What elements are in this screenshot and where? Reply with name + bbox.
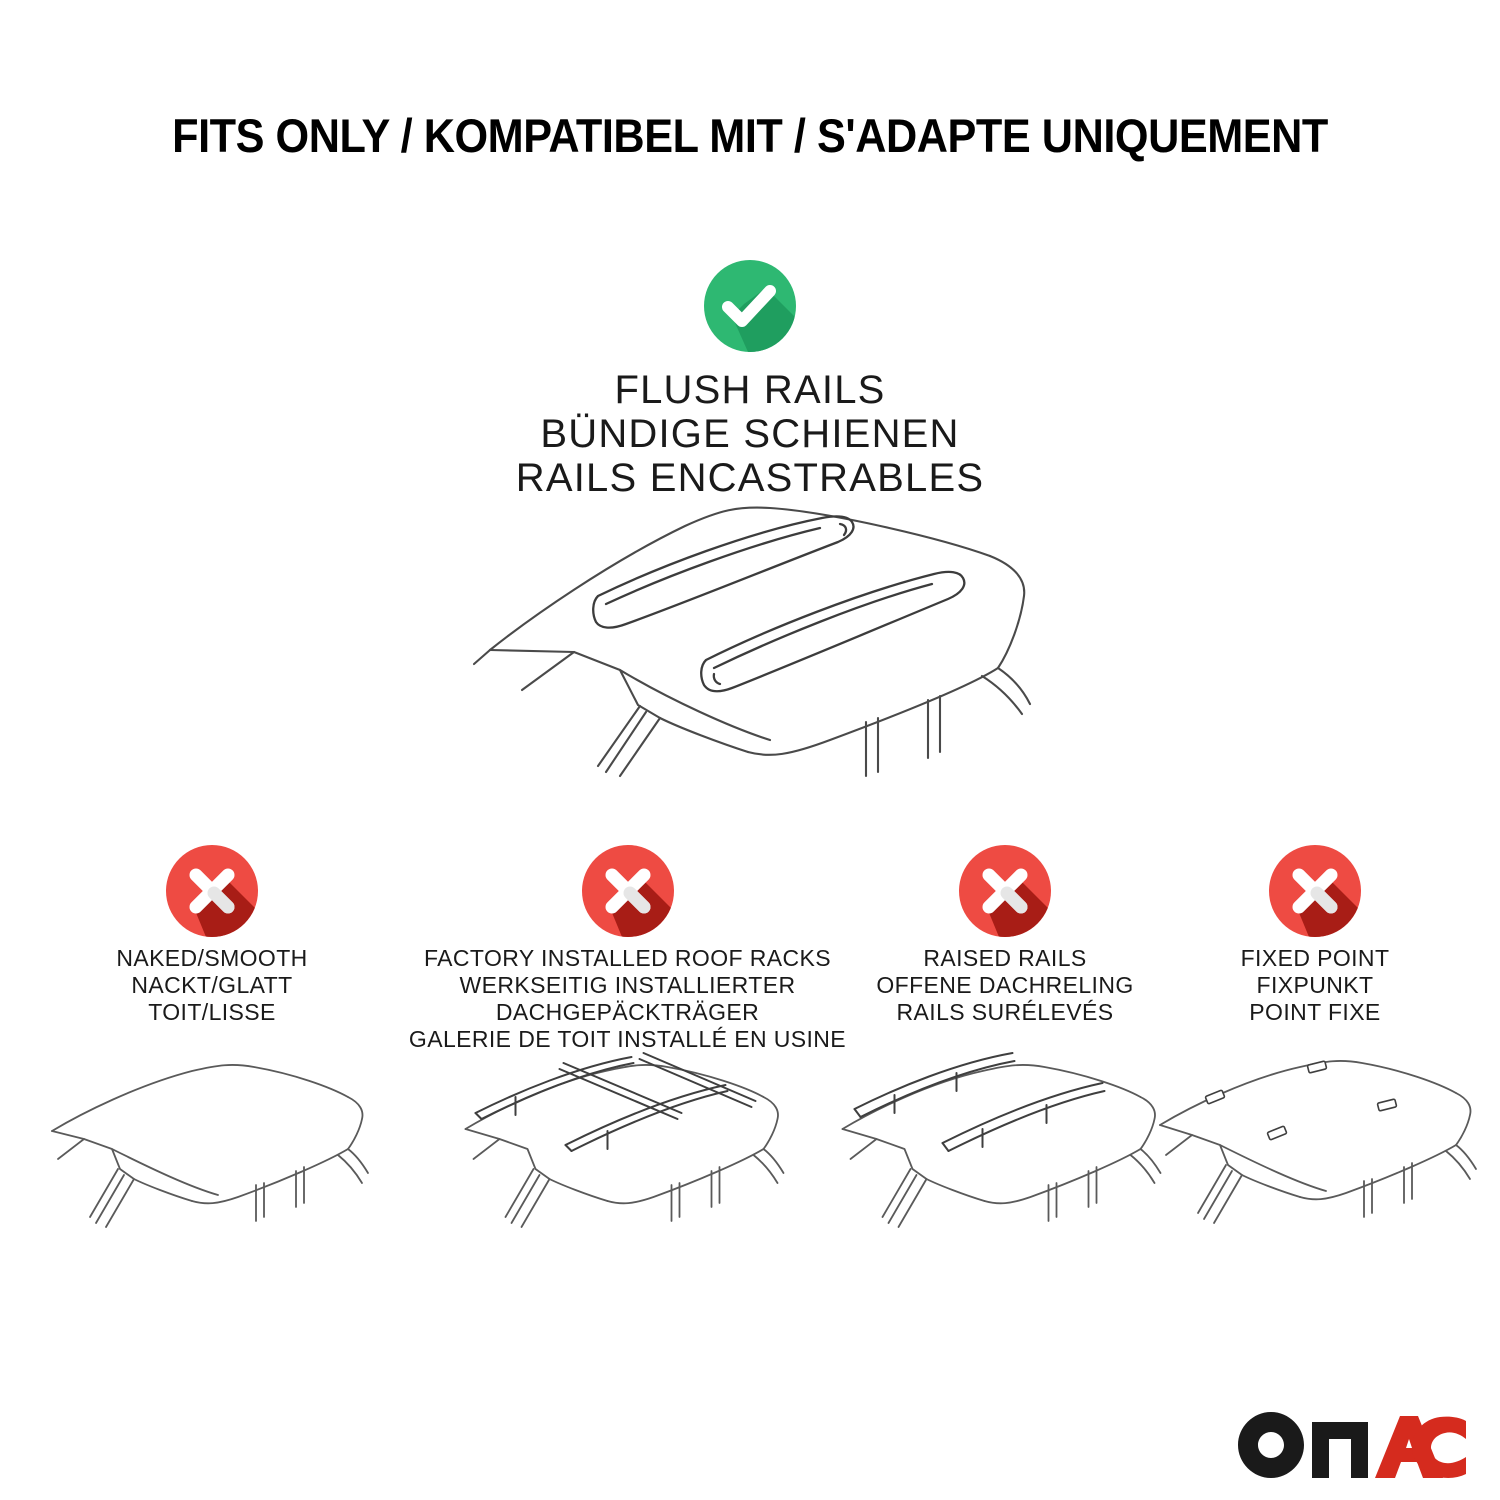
omac-logo-letter-o [1238, 1412, 1304, 1478]
column-labels: RAISED RAILS OFFENE DACHRELING RAILS SUR… [845, 945, 1165, 1026]
label-line-fr: RAILS SURÉLEVÉS [845, 999, 1165, 1026]
column-labels: NAKED/SMOOTH NACKT/GLATT TOIT/LISSE [42, 945, 382, 1026]
omac-logo [1238, 1412, 1466, 1478]
label-line-en: NAKED/SMOOTH [42, 945, 382, 972]
label-line-de: FIXPUNKT [1165, 972, 1465, 999]
red-x-icon [582, 845, 674, 937]
car-roof-fixed-point-illustration [1150, 1057, 1480, 1287]
car-roof-raised-rails-illustration [833, 1057, 1178, 1287]
compatible-label-en: FLUSH RAILS [0, 368, 1500, 412]
incompatible-column-naked-smooth: NAKED/SMOOTH NACKT/GLATT TOIT/LISSE [42, 845, 382, 1026]
incompatible-column-fixed-point: FIXED POINT FIXPUNKT POINT FIXE [1165, 845, 1465, 1026]
label-line-de: NACKT/GLATT [42, 972, 382, 999]
car-roof-naked-smooth-illustration [42, 1057, 382, 1287]
incompatible-section: NAKED/SMOOTH NACKT/GLATT TOIT/LISSE [0, 845, 1500, 1325]
column-labels: FACTORY INSTALLED ROOF RACKS WERKSEITIG … [400, 945, 855, 1053]
car-roof-factory-racks-illustration [455, 1057, 800, 1287]
incompatible-column-factory-racks: FACTORY INSTALLED ROOF RACKS WERKSEITIG … [400, 845, 855, 1053]
compatible-label-fr: RAILS ENCASTRABLES [0, 456, 1500, 500]
label-line-de: OFFENE DACHRELING [845, 972, 1165, 999]
red-x-icon [1269, 845, 1361, 937]
compatible-labels: FLUSH RAILS BÜNDIGE SCHIENEN RAILS ENCAS… [0, 368, 1500, 500]
label-line-en: RAISED RAILS [845, 945, 1165, 972]
red-x-icon [166, 845, 258, 937]
red-x-icon [959, 845, 1051, 937]
label-line-de-2: DACHGEPÄCKTRÄGER [400, 999, 855, 1026]
label-line-fr: TOIT/LISSE [42, 999, 382, 1026]
car-roof-flush-rails-illustration [470, 500, 1050, 790]
label-line-de-1: WERKSEITIG INSTALLIERTER [400, 972, 855, 999]
green-check-icon [704, 260, 796, 352]
label-line-fr: GALERIE DE TOIT INSTALLÉ EN USINE [400, 1026, 855, 1053]
incompatible-column-raised-rails: RAISED RAILS OFFENE DACHRELING RAILS SUR… [845, 845, 1165, 1026]
column-labels: FIXED POINT FIXPUNKT POINT FIXE [1165, 945, 1465, 1026]
compatible-label-de: BÜNDIGE SCHIENEN [0, 412, 1500, 456]
label-line-en: FACTORY INSTALLED ROOF RACKS [400, 945, 855, 972]
compatible-section: FLUSH RAILS BÜNDIGE SCHIENEN RAILS ENCAS… [0, 260, 1500, 500]
label-line-fr: POINT FIXE [1165, 999, 1465, 1026]
page-title: FITS ONLY / KOMPATIBEL MIT / S'ADAPTE UN… [60, 108, 1440, 163]
label-line-en: FIXED POINT [1165, 945, 1465, 972]
